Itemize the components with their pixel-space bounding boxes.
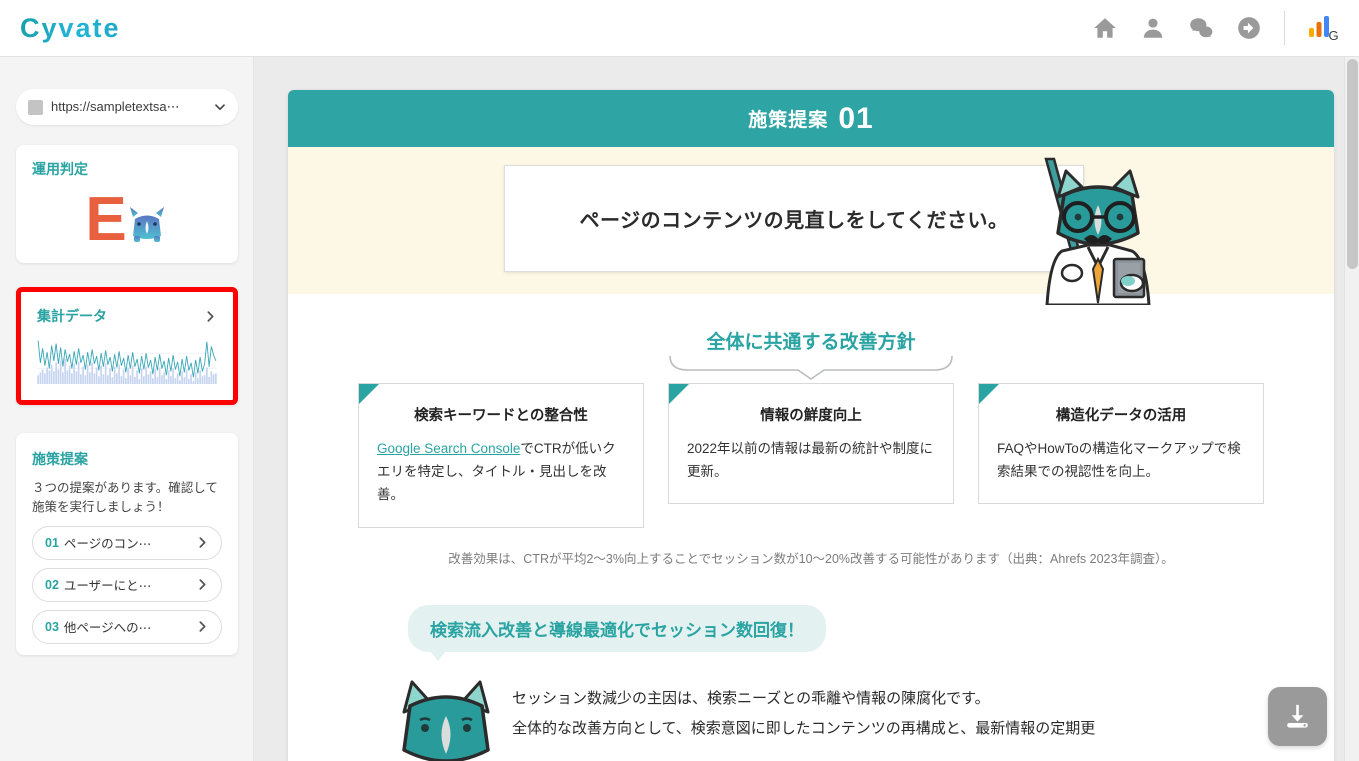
summary-bubble: 検索流入改善と導線最適化でセッション数回復！ [408,605,826,652]
chevron-down-icon [214,101,226,113]
hero-message: ページのコンテンツの見直しをしてください。 [580,204,1009,233]
google-analytics-icon[interactable]: G [1307,14,1341,42]
main-content: 施策提案 01 ページのコンテンツの見直しをしてください。 [255,57,1359,761]
improvement-card-3: 構造化データの活用 FAQやHowToの構造化マークアップで検索結果での視認性を… [978,383,1264,504]
operation-judgement-title: 運用判定 [32,159,222,179]
aggregate-data-header: 集計データ [37,306,217,326]
chevron-right-icon [196,536,209,549]
chevron-right-icon [196,620,209,633]
url-selector[interactable]: https://sampletextsa⋯ [16,89,238,125]
top-bar-icon-group: G [1092,11,1341,45]
grade-letter: E [85,195,126,246]
proposal-number: 02 [45,578,59,592]
improvement-card-body: 2022年以前の情報は最新の統計や制度に更新。 [687,437,935,483]
improvement-card-body: Google Search ConsoleでCTRが低いクエリを特定し、タイトル… [377,437,625,507]
user-icon[interactable] [1140,15,1166,41]
proposal-label: ページのコン⋯ [64,533,151,552]
operation-judgement-card: 運用判定 E [16,145,238,263]
proposal-panel: 施策提案 01 ページのコンテンツの見直しをしてください。 [288,90,1334,761]
rhino-head-icon [398,676,494,761]
proposal-item-02[interactable]: 02 ユーザーにと⋯ [32,568,222,602]
proposal-number: 01 [45,536,59,550]
proposals-description: ３つの提案があります。確認して施策を実行しましょう！ [32,479,222,518]
hero-message-box: ページのコンテンツの見直しをしてください。 [504,165,1084,272]
aggregate-data-card[interactable]: 集計データ [16,287,238,405]
improvement-card-1: 検索キーワードとの整合性 Google Search ConsoleでCTRが低… [358,383,644,528]
url-selector-value: https://sampletextsa⋯ [51,99,214,115]
proposal-item-03[interactable]: 03 他ページへの⋯ [32,610,222,644]
grade-display: E [32,185,222,255]
hero-banner: ページのコンテンツの見直しをしてください。 [288,147,1334,294]
toolbar-divider [1284,11,1285,45]
home-icon[interactable] [1092,15,1118,41]
section-heading-text: 全体に共通する改善方針 [706,332,915,353]
proposal-label: 他ページへの⋯ [64,617,151,636]
logout-icon[interactable] [1236,15,1262,41]
closing-line-2: 全体的な改善方向として、検索意図に即したコンテンツの再構成と、最新情報の定期更 [512,714,1095,745]
proposals-card: 施策提案 ３つの提案があります。確認して施策を実行しましょう！ 01 ページのコ… [16,433,238,655]
chat-icon[interactable] [1188,15,1214,41]
improvement-cards-row: 検索キーワードとの整合性 Google Search ConsoleでCTRが低… [288,383,1334,528]
panel-header-number: 01 [838,102,873,136]
improvement-card-title: 構造化データの活用 [997,404,1245,425]
app-logo[interactable]: Cyvate [20,13,121,44]
proposal-item-01[interactable]: 01 ページのコン⋯ [32,526,222,560]
scrollbar-thumb[interactable] [1347,59,1358,269]
improvement-note: 改善効果は、CTRが平均2〜3%向上することでセッション数が10〜20%改善する… [288,548,1334,567]
panel-header: 施策提案 01 [288,90,1334,147]
summary-bubble-wrapper: 検索流入改善と導線最適化でセッション数回復！ [288,605,1334,652]
google-search-console-link[interactable]: Google Search Console [377,441,520,456]
proposal-label: ユーザーにと⋯ [64,575,151,594]
closing-text: セッション数減少の主因は、検索ニーズとの乖離や情報の陳腐化です。 全体的な改善方… [512,674,1095,746]
improvement-card-body: FAQやHowToの構造化マークアップで検索結果での視認性を向上。 [997,437,1245,483]
proposals-title: 施策提案 [32,449,222,469]
panel-header-label: 施策提案 [748,105,828,132]
closing-section: セッション数減少の主因は、検索ニーズとの乖離や情報の陳腐化です。 全体的な改善方… [288,674,1334,761]
improvement-card-title: 情報の鮮度向上 [687,404,935,425]
closing-line-1: セッション数減少の主因は、検索ニーズとの乖離や情報の陳腐化です。 [512,684,1095,715]
download-icon [1282,701,1313,732]
site-favicon-placeholder [28,100,43,115]
rhino-professor-icon [1028,155,1168,305]
heading-underline-decoration [666,354,956,380]
sidebar: https://sampletextsa⋯ 運用判定 E 集計データ [0,57,254,761]
top-bar: Cyvate G [0,0,1359,57]
aggregate-sparkline-chart [37,338,217,384]
improvement-card-2: 情報の鮮度向上 2022年以前の情報は最新の統計や制度に更新。 [668,383,954,504]
chevron-right-icon [196,578,209,591]
rhino-mini-icon [125,203,169,247]
vertical-scrollbar[interactable] [1344,57,1359,761]
proposal-number: 03 [45,620,59,634]
improvement-card-title: 検索キーワードとの整合性 [377,404,625,425]
chevron-right-icon[interactable] [204,310,217,323]
aggregate-data-title: 集計データ [37,306,107,326]
svg-text:G: G [1329,28,1339,42]
download-button[interactable] [1268,687,1327,746]
section-heading: 全体に共通する改善方針 [288,327,1334,375]
